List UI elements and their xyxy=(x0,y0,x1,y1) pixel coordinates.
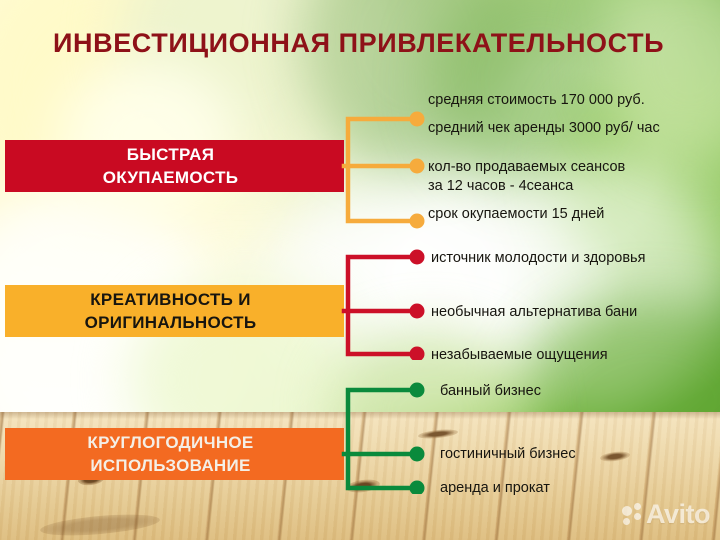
bullet-item: источник молодости и здоровья xyxy=(431,249,645,268)
category-block-label: КРУГЛОГОДИЧНОЕ ИСПОЛЬЗОВАНИЕ xyxy=(87,431,253,477)
bullet-text-line1: аренда и прокат xyxy=(440,479,550,498)
bullet-item: гостиничный бизнес xyxy=(440,445,576,464)
page-title: ИНВЕСТИЦИОННАЯ ПРИВЛЕКАТЕЛЬНОСТЬ xyxy=(53,28,664,59)
bullet-text-line1: средняя стоимость 170 000 руб. xyxy=(428,91,660,110)
bullet-item: срок окупаемости 15 дней xyxy=(428,205,604,224)
category-label-line1: КРУГЛОГОДИЧНОЕ xyxy=(87,431,253,454)
bullet-text-line1: незабываемые ощущения xyxy=(431,346,608,365)
bullet-item: средняя стоимость 170 000 руб. средний ч… xyxy=(428,91,660,138)
bullet-text-line1: необычная альтернатива бани xyxy=(431,303,637,322)
category-block-label: КРЕАТИВНОСТЬ И ОРИГИНАЛЬНОСТЬ xyxy=(85,288,257,334)
avito-wordmark: Avito xyxy=(646,499,710,530)
bullet-text-line1: кол-во продаваемых сеансов xyxy=(428,158,625,177)
bullet-item: аренда и прокат xyxy=(440,479,550,498)
bullet-text-line1: источник молодости и здоровья xyxy=(431,249,645,268)
category-block-creativity[interactable]: КРЕАТИВНОСТЬ И ОРИГИНАЛЬНОСТЬ xyxy=(5,285,344,337)
category-label-line2: ИСПОЛЬЗОВАНИЕ xyxy=(87,454,253,477)
bullet-text-line1: гостиничный бизнес xyxy=(440,445,576,464)
bullet-item: незабываемые ощущения xyxy=(431,346,608,365)
bullet-text-line2: средний чек аренды 3000 руб/ час xyxy=(428,119,660,138)
connector-bracket-group-3 xyxy=(340,382,430,494)
avito-logo-dot-icon xyxy=(634,513,641,520)
avito-logo-dot-icon xyxy=(622,506,632,516)
category-label-line1: КРЕАТИВНОСТЬ И xyxy=(85,288,257,311)
category-block-label: БЫСТРАЯ ОКУПАЕМОСТЬ xyxy=(103,143,239,189)
category-label-line2: ОКУПАЕМОСТЬ xyxy=(103,166,239,189)
category-label-line2: ОРИГИНАЛЬНОСТЬ xyxy=(85,311,257,334)
connector-bracket-group-1 xyxy=(340,108,430,232)
bullet-text-line2: за 12 часов - 4сеанса xyxy=(428,177,625,196)
bullet-item: необычная альтернатива бани xyxy=(431,303,637,322)
category-block-fast-payback[interactable]: БЫСТРАЯ ОКУПАЕМОСТЬ xyxy=(5,140,344,192)
category-label-line1: БЫСТРАЯ xyxy=(103,143,239,166)
bullet-item: кол-во продаваемых сеансов за 12 часов -… xyxy=(428,158,625,196)
avito-logo-dot-icon xyxy=(623,518,630,525)
connector-bracket-group-2 xyxy=(340,248,430,360)
bullet-text-line1: срок окупаемости 15 дней xyxy=(428,205,604,224)
avito-logo-dot-icon xyxy=(634,503,641,510)
bullet-item: банный бизнес xyxy=(440,382,541,401)
bullet-text-line1: банный бизнес xyxy=(440,382,541,401)
category-block-year-round-use[interactable]: КРУГЛОГОДИЧНОЕ ИСПОЛЬЗОВАНИЕ xyxy=(5,428,344,480)
avito-watermark: Avito xyxy=(622,500,714,534)
infographic-canvas: ИНВЕСТИЦИОННАЯ ПРИВЛЕКАТЕЛЬНОСТЬ БЫСТРАЯ… xyxy=(0,0,720,540)
